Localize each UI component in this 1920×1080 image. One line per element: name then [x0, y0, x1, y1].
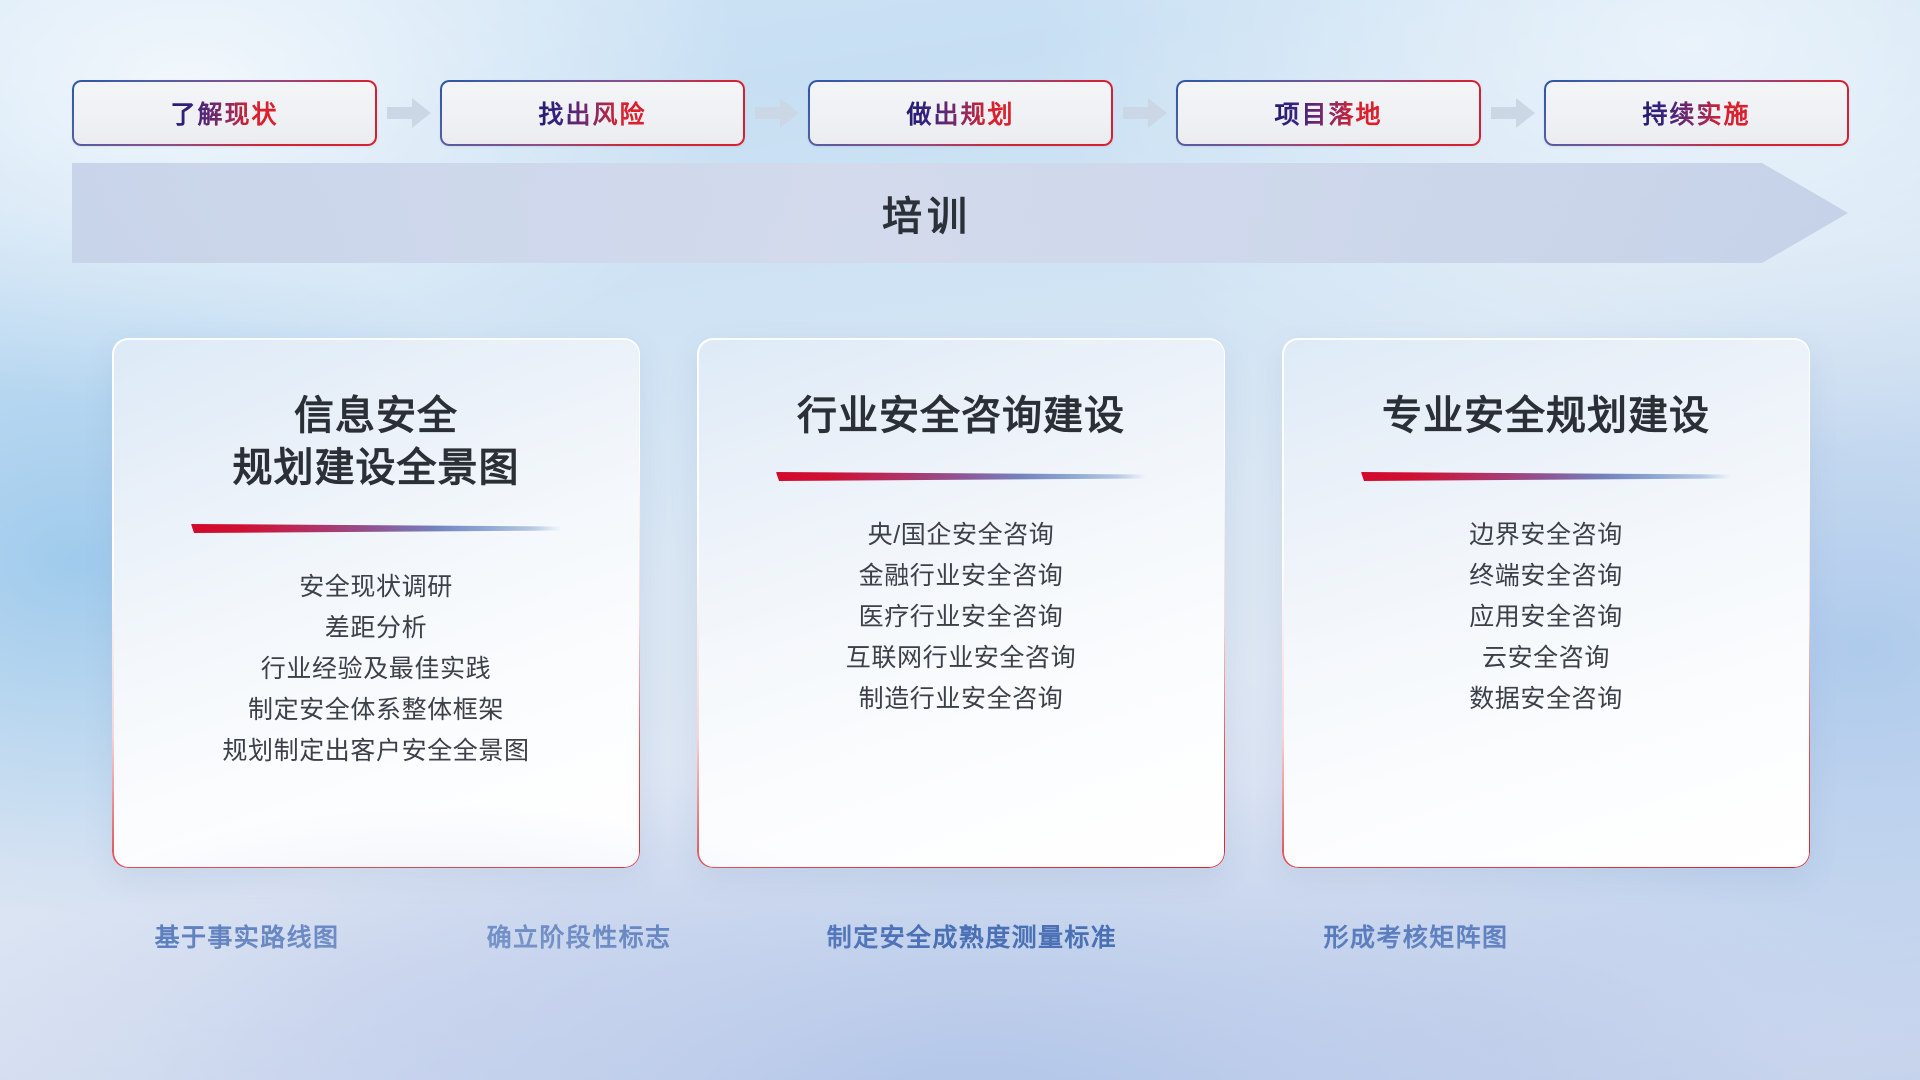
list-item: 边界安全咨询: [1469, 515, 1623, 556]
list-item: 差距分析: [325, 608, 427, 649]
process-step-label: 了解现状: [170, 95, 278, 131]
list-item: 云安全咨询: [1482, 638, 1610, 679]
list-item: 医疗行业安全咨询: [859, 597, 1064, 638]
process-step-label: 持续实施: [1642, 95, 1750, 131]
list-item: 安全现状调研: [299, 567, 453, 608]
card-list: 央/国企安全咨询 金融行业安全咨询 医疗行业安全咨询 互联网行业安全咨询 制造行…: [697, 515, 1225, 720]
process-step-row: 了解现状 找出风险 做出规划 项目落地: [72, 80, 1848, 146]
feature-card-row: 信息安全 规划建设全景图 安全现状调研 差距分析 行业经验及最佳实践 制定安全体…: [112, 338, 1812, 868]
slide-canvas: 了解现状 找出风险 做出规划 项目落地: [0, 0, 1920, 1080]
process-step-3[interactable]: 做出规划: [808, 80, 1113, 146]
list-item: 金融行业安全咨询: [859, 556, 1064, 597]
card-divider: [1361, 472, 1731, 481]
caption-1: 基于事实路线图: [155, 918, 340, 954]
process-step-4[interactable]: 项目落地: [1176, 80, 1481, 146]
caption-3: 制定安全成熟度测量标准: [827, 918, 1117, 954]
process-step-2[interactable]: 找出风险: [440, 80, 745, 146]
card-list: 安全现状调研 差距分析 行业经验及最佳实践 制定安全体系整体框架 规划制定出客户…: [112, 567, 640, 772]
card-title: 信息安全 规划建设全景图: [233, 390, 520, 494]
arrow-right-icon: [745, 98, 808, 128]
arrow-right-icon: [377, 98, 440, 128]
list-item: 制定安全体系整体框架: [248, 690, 504, 731]
arrow-right-icon: [1113, 98, 1176, 128]
list-item: 央/国企安全咨询: [868, 515, 1055, 556]
training-banner: 培训: [72, 163, 1848, 263]
banner-title: 培训: [72, 163, 1848, 263]
caption-row: 基于事实路线图 确立阶段性标志 制定安全成熟度测量标准 形成考核矩阵图: [0, 918, 1920, 962]
list-item: 互联网行业安全咨询: [846, 638, 1076, 679]
process-step-1[interactable]: 了解现状: [72, 80, 377, 146]
process-step-label: 找出风险: [538, 95, 646, 131]
list-item: 应用安全咨询: [1469, 597, 1623, 638]
card-title: 行业安全咨询建设: [797, 390, 1125, 442]
list-item: 规划制定出客户安全全景图: [222, 731, 529, 772]
card-list: 边界安全咨询 终端安全咨询 应用安全咨询 云安全咨询 数据安全咨询: [1282, 515, 1810, 720]
list-item: 数据安全咨询: [1469, 679, 1623, 720]
list-item: 终端安全咨询: [1469, 556, 1623, 597]
feature-card-2[interactable]: 行业安全咨询建设 央/国企安全咨询 金融行业安全咨询 医疗行业安全咨询 互联网行…: [697, 338, 1225, 868]
card-divider: [776, 472, 1146, 481]
caption-2: 确立阶段性标志: [487, 918, 672, 954]
caption-4: 形成考核矩阵图: [1324, 918, 1509, 954]
feature-card-1[interactable]: 信息安全 规划建设全景图 安全现状调研 差距分析 行业经验及最佳实践 制定安全体…: [112, 338, 640, 868]
feature-card-3[interactable]: 专业安全规划建设 边界安全咨询 终端安全咨询 应用安全咨询 云安全咨询 数据安全…: [1282, 338, 1810, 868]
card-divider: [191, 524, 561, 533]
process-step-5[interactable]: 持续实施: [1544, 80, 1849, 146]
list-item: 制造行业安全咨询: [859, 679, 1064, 720]
process-step-label: 项目落地: [1274, 95, 1382, 131]
card-title: 专业安全规划建设: [1382, 390, 1710, 442]
list-item: 行业经验及最佳实践: [261, 649, 491, 690]
arrow-right-icon: [1481, 98, 1544, 128]
process-step-label: 做出规划: [906, 95, 1014, 131]
